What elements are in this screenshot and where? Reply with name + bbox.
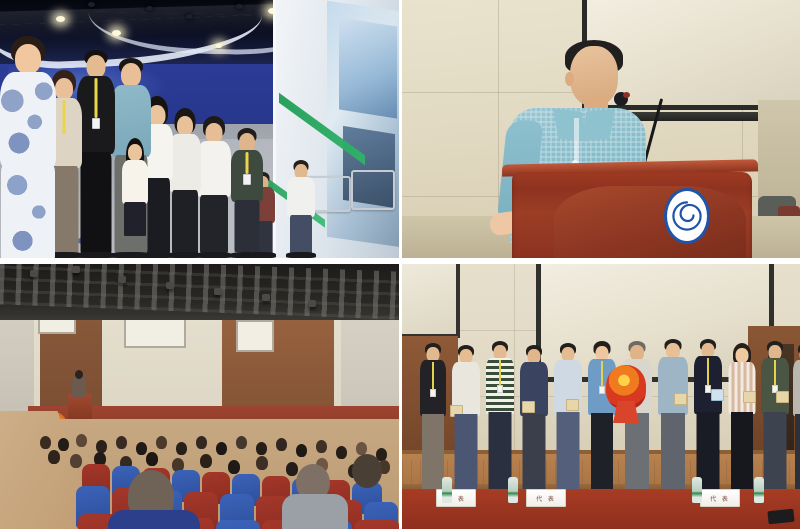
microphone-tip-icon (623, 92, 630, 98)
photo-panel-top-left[interactable] (0, 0, 399, 258)
photo-panel-top-right[interactable] (402, 0, 800, 258)
visitor-figure-foreground (0, 36, 56, 258)
stage-lamp-icon (308, 300, 316, 307)
display-panel-graphic-top (339, 17, 397, 118)
group-person (726, 343, 758, 493)
auditorium-photo (0, 264, 399, 529)
visitor-figure (286, 160, 316, 258)
projection-screen-surface (402, 264, 456, 334)
stage-presenter-head (75, 370, 83, 379)
speaker-ear (565, 72, 574, 86)
group-person (418, 343, 448, 493)
stage-lamp-icon (118, 276, 126, 283)
photo-panel-bottom-left[interactable] (0, 264, 399, 529)
shoe (230, 252, 264, 258)
display-handrail (351, 170, 395, 210)
group-person (484, 341, 516, 493)
ceiling-spotlight-icon (216, 44, 222, 48)
ceiling-fixture-icon (186, 14, 193, 19)
group-person (692, 339, 724, 493)
ceiling-spotlight-icon (112, 30, 121, 36)
foreground-audience-shoulders (282, 494, 348, 529)
stage-lamp-icon (30, 270, 38, 277)
water-bottle-icon (442, 477, 452, 503)
group-person (791, 343, 800, 493)
name-card: 代 表 (526, 489, 566, 507)
group-person (450, 345, 482, 493)
visitor-figure (120, 138, 150, 258)
ceiling-spotlight-icon (56, 16, 65, 22)
stage-lamp-icon (262, 294, 270, 301)
name-card: 代 表 (700, 489, 740, 507)
mobile-phone-icon (767, 509, 794, 525)
group-person (586, 341, 618, 493)
group-person (552, 343, 584, 493)
water-bottle-icon (692, 477, 702, 503)
speaker-head (570, 46, 618, 106)
visitor-figure (230, 128, 264, 258)
podium-speaker-photo (402, 0, 800, 258)
foreground-audience-shoulders (108, 510, 200, 529)
projection-screen-icon (402, 264, 460, 338)
photo-collage: 代 表 代 表 代 表 (0, 0, 800, 529)
podium-front-panel (554, 186, 746, 258)
stage-presenter (72, 376, 86, 398)
group-person (759, 341, 791, 493)
stage-lamp-icon (214, 288, 222, 295)
photo-panel-bottom-right[interactable]: 代 表 代 表 代 表 (402, 264, 800, 529)
water-bottle-icon (508, 477, 518, 503)
stage-group-photo: 代 表 代 表 代 表 (402, 264, 800, 529)
ceiling-fixture-icon (236, 4, 243, 9)
foreground-audience-head (352, 454, 382, 488)
water-bottle-icon (754, 477, 764, 503)
stage-lamp-icon (166, 282, 174, 289)
stage-lamp-icon (72, 266, 80, 273)
shoe (286, 252, 316, 258)
group-person (656, 339, 690, 493)
shirt-collar-right (581, 109, 615, 142)
group-person-with-bouquet (620, 341, 654, 493)
ceiling-fixture-icon (146, 6, 153, 11)
ceiling-fixture-icon (88, 2, 95, 7)
spiral-logo-icon (664, 188, 710, 244)
exhibition-hall-photo (0, 0, 399, 258)
projection-screen-icon (236, 320, 274, 352)
group-person (518, 345, 550, 493)
